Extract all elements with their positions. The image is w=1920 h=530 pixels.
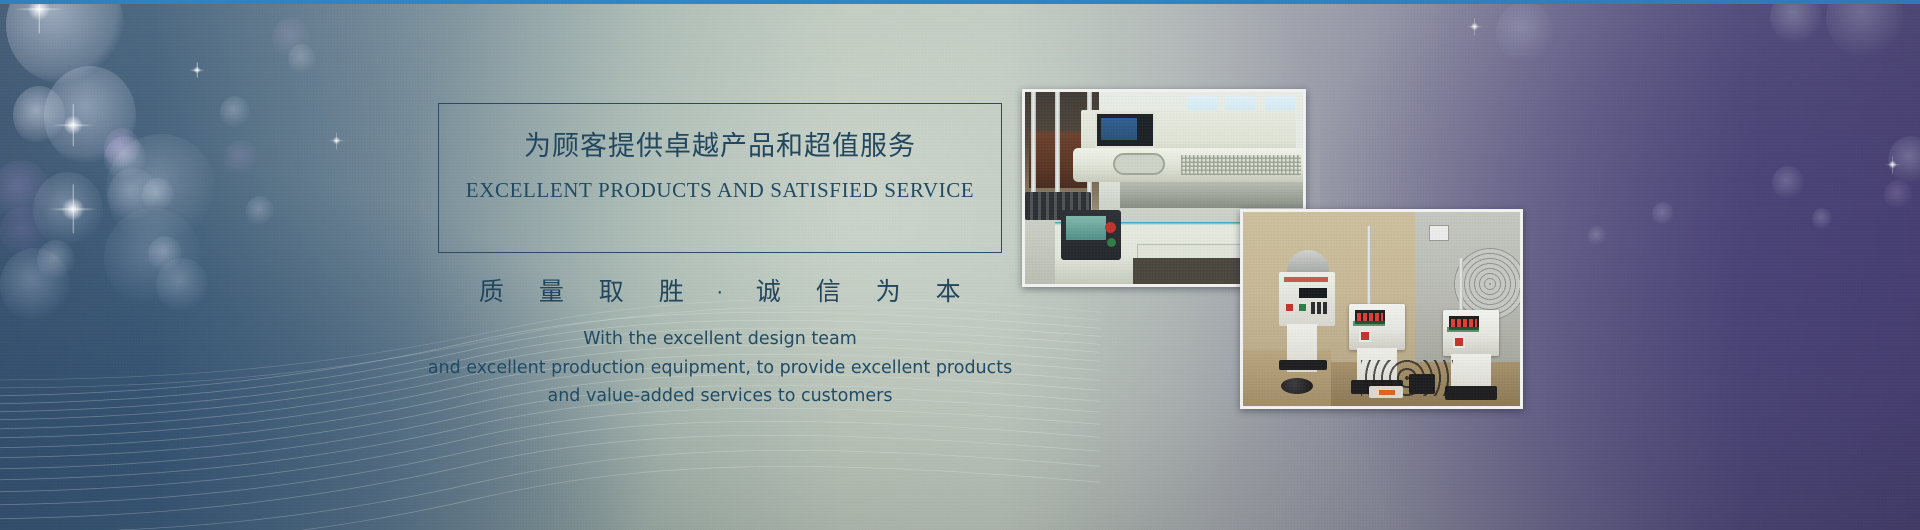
bokeh-circle	[44, 66, 136, 166]
background-vertical-shading	[0, 0, 1920, 530]
bokeh-circle	[224, 140, 258, 176]
bokeh-circle	[142, 178, 174, 212]
bokeh-circle	[13, 86, 65, 144]
bokeh-circle	[30, 172, 96, 242]
photo-bench-shadow	[1133, 258, 1253, 284]
heading-frame-box: 为顾客提供卓越产品和超值服务 EXCELLENT PRODUCTS AND SA…	[438, 103, 1002, 253]
sparkle	[193, 66, 201, 74]
photo-machine-post	[1367, 226, 1371, 304]
photo-red-button	[1105, 222, 1116, 233]
paragraph-line: and value-added services to customers	[300, 382, 1140, 411]
photo-panel-display	[1299, 288, 1327, 298]
photo-coil-reel	[1281, 378, 1313, 394]
photo-red-button	[1286, 304, 1293, 311]
photo-machine-post	[1459, 258, 1463, 310]
slogan-char: 本	[923, 272, 975, 308]
bokeh-circle	[1588, 226, 1606, 246]
slogan-char: 取	[586, 272, 638, 308]
photo-red-button	[1359, 330, 1371, 342]
photo-orange-marker	[1379, 390, 1395, 395]
bokeh-circle	[0, 160, 50, 222]
bokeh-circle	[288, 44, 316, 74]
bokeh-circle	[106, 132, 150, 178]
bokeh-circle	[1812, 208, 1832, 230]
bokeh-circle	[66, 186, 110, 232]
photo-anvil	[1279, 360, 1327, 370]
photo-control-box	[1061, 210, 1121, 260]
bokeh-circle	[1826, 0, 1904, 58]
photo-machine-label	[1447, 327, 1479, 332]
bokeh-circle	[33, 172, 103, 248]
bokeh-circle	[105, 136, 165, 200]
bokeh-circle	[104, 133, 162, 193]
bokeh-circle	[148, 236, 182, 272]
bokeh-circle	[272, 18, 310, 58]
sparkle	[62, 114, 84, 136]
bokeh-circle	[104, 128, 140, 168]
photo-crimping-machine	[1349, 304, 1405, 350]
bokeh-circle	[104, 126, 140, 164]
bokeh-circle	[108, 168, 158, 222]
photo-red-button	[1453, 336, 1465, 348]
bokeh-circle	[37, 240, 75, 280]
bokeh-circle	[1888, 136, 1920, 184]
sparkle	[1888, 160, 1897, 169]
bokeh-circle	[230, 68, 266, 106]
bokeh-circle	[220, 96, 250, 128]
photo-wall-socket	[1429, 225, 1449, 241]
bokeh-circle	[104, 132, 138, 170]
paragraph-line: With the excellent design team	[300, 325, 1140, 354]
promo-banner: 为顾客提供卓越产品和超值服务 EXCELLENT PRODUCTS AND SA…	[0, 0, 1920, 530]
bokeh-circle	[0, 248, 70, 322]
photo-machine-label	[1353, 321, 1385, 326]
bokeh-circle	[106, 132, 140, 168]
photo-control-screen	[1066, 216, 1106, 240]
bokeh-circle	[1770, 0, 1822, 44]
bokeh-circle	[28, 172, 86, 232]
bokeh-circle	[1884, 180, 1912, 210]
sparkle	[1470, 22, 1479, 31]
slogan-char: 为	[863, 272, 915, 308]
slogan-char: 胜	[646, 272, 698, 308]
photo-green-button	[1299, 304, 1306, 311]
photo-conveyor	[1120, 182, 1306, 208]
bokeh-circle	[0, 206, 48, 258]
photo-control-panel	[1279, 272, 1335, 326]
slogan-line: 质 量 取 胜 · 诚 信 为 本	[438, 272, 1002, 308]
top-accent-rule	[0, 0, 1920, 4]
photo-image	[1243, 212, 1520, 406]
bokeh-circle	[1652, 202, 1674, 226]
slogan-char: 信	[803, 272, 855, 308]
photo-panel-label	[1284, 277, 1328, 282]
slogan-separator: ·	[706, 282, 735, 304]
background-grain	[0, 0, 1920, 530]
page-title-chinese: 为顾客提供卓越产品和超值服务	[439, 124, 1001, 163]
photo-oven-vent	[1181, 155, 1301, 175]
bokeh-circle	[1772, 166, 1804, 200]
photo-foot-pedal	[1409, 374, 1435, 394]
bokeh-circle	[156, 258, 208, 312]
sparkle	[332, 136, 341, 145]
workshop-photo-crimping-machines	[1240, 209, 1523, 409]
bokeh-circle	[246, 196, 274, 226]
bokeh-circle	[106, 134, 216, 246]
photo-green-button	[1107, 238, 1116, 247]
bokeh-circle	[1496, 2, 1554, 62]
paragraph-line: and excellent production equipment, to p…	[300, 354, 1140, 383]
page-subtitle-english: EXCELLENT PRODUCTS AND SATISFIED SERVICE	[439, 178, 1001, 203]
bokeh-circle	[104, 208, 202, 308]
bokeh-circle	[108, 172, 154, 220]
slogan-char: 量	[526, 272, 578, 308]
bokeh-circle	[104, 136, 146, 180]
description-paragraph: With the excellent design team and excel…	[300, 325, 1140, 411]
photo-keypad	[1311, 302, 1329, 314]
sparkle	[60, 196, 86, 222]
photo-reflow-oven	[1073, 148, 1306, 182]
slogan-char: 诚	[743, 272, 795, 308]
photo-monitor	[1095, 112, 1155, 148]
photo-crimping-machine	[1443, 310, 1499, 356]
bokeh-circle	[6, 0, 124, 84]
photo-oven-hatch	[1113, 153, 1165, 175]
bokeh-circle	[112, 136, 142, 168]
slogan-char: 质	[466, 272, 518, 308]
bokeh-circle	[36, 168, 96, 232]
